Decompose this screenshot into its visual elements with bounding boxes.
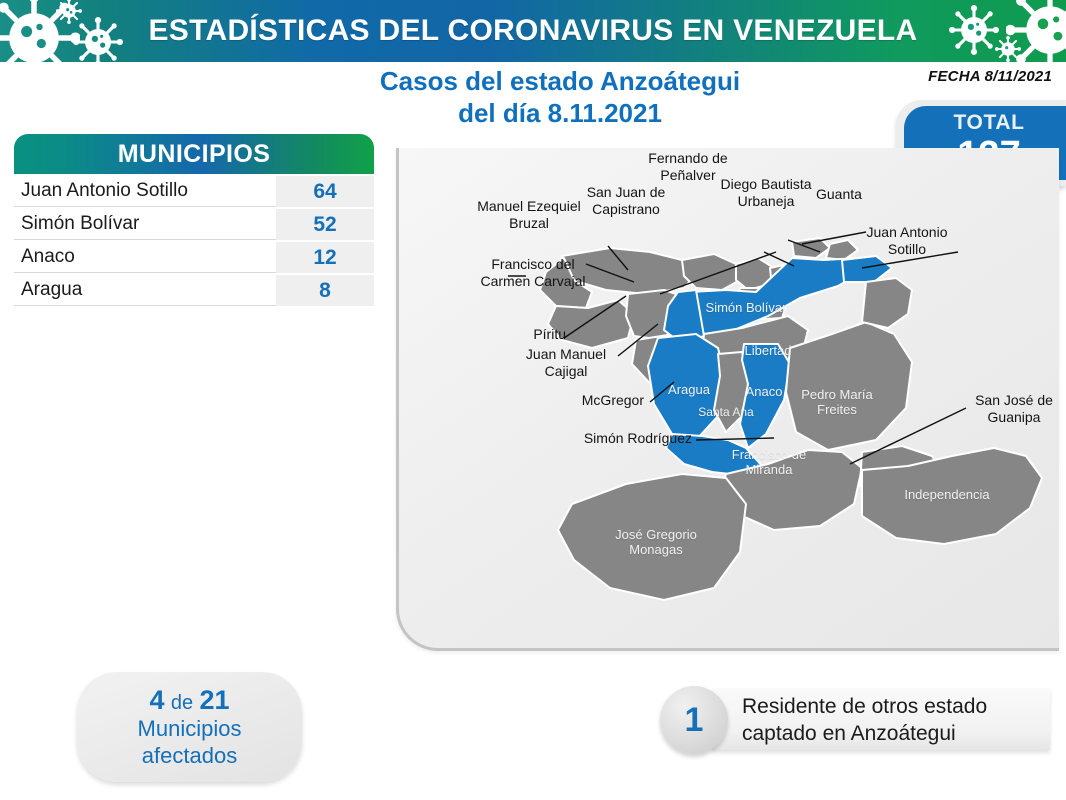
- map-callout-juan-manuel-cajigal: Juan Manuel Cajigal: [514, 346, 618, 379]
- municipio-name: Aragua: [14, 275, 276, 306]
- table-row: Simón Bolívar 52: [14, 209, 374, 240]
- municipio-name: Simón Bolívar: [14, 209, 276, 240]
- residents-note-text: Residente de otros estado captado en Anz…: [742, 694, 1042, 748]
- residents-note-line1: Residente de otros estado: [742, 694, 1042, 721]
- map-callout-guanta: Guanta: [816, 186, 886, 203]
- residents-count-badge: 1: [660, 686, 728, 754]
- total-label: TOTAL: [904, 106, 1066, 135]
- municipio-count: 12: [276, 242, 374, 273]
- page-title: ESTADÍSTICAS DEL CORONAVIRUS EN VENEZUEL…: [0, 0, 1066, 62]
- header-banner: ESTADÍSTICAS DEL CORONAVIRUS EN VENEZUEL…: [0, 0, 1066, 62]
- municipio-name: Anaco: [14, 242, 276, 273]
- residents-note-line2: captado en Anzoátegui: [742, 721, 1042, 748]
- table-row: Anaco 12: [14, 242, 374, 273]
- residents-note: 1 Residente de otros estado captado en A…: [660, 686, 1050, 758]
- map-callout-juan-antonio-sotillo: Juan Antonio Sotillo: [852, 224, 962, 257]
- municipio-name: Juan Antonio Sotillo: [14, 176, 276, 207]
- table-row: Juan Antonio Sotillo 64: [14, 176, 374, 207]
- map-callout-diego-bautista-urbaneja: Diego Bautista Urbaneja: [708, 176, 824, 209]
- table-row: Aragua 8: [14, 275, 374, 306]
- affected-label-line3: afectados: [142, 743, 237, 769]
- municipio-count: 8: [276, 275, 374, 306]
- map-callout-piritu: Píritu: [498, 326, 566, 343]
- date-label: FECHA 8/11/2021: [928, 68, 1052, 85]
- chart-title-line1: Casos del estado Anzoátegui: [380, 66, 740, 96]
- municipios-table: MUNICIPIOS Juan Antonio Sotillo 64 Simón…: [14, 134, 374, 308]
- municipios-table-header: MUNICIPIOS: [14, 134, 374, 174]
- anzoategui-map: Simón Bolívar Libertad Aragua Anaco Sant…: [396, 148, 1066, 653]
- affected-total: 21: [200, 685, 230, 715]
- affected-label-line2: Municipios: [138, 716, 242, 742]
- map-callout-simon-rodriguez: Simón Rodríguez: [556, 430, 692, 447]
- map-callout-manuel-ezequiel-bruzal: Manuel Ezequiel Bruzal: [468, 198, 590, 231]
- map-callout-francisco-del-carmen-carvajal: Francisco del Carmen Carvajal: [478, 256, 588, 289]
- municipio-count: 64: [276, 176, 374, 207]
- municipio-count: 52: [276, 209, 374, 240]
- chart-title-line2: del día 8.11.2021: [300, 98, 820, 130]
- municipios-table-body: Juan Antonio Sotillo 64 Simón Bolívar 52…: [14, 174, 374, 306]
- map-callout-san-jose-de-guanipa: San José de Guanipa: [966, 392, 1062, 425]
- chart-title: Casos del estado Anzoátegui del día 8.11…: [300, 66, 820, 129]
- affected-count-line: 4 de 21: [149, 685, 229, 716]
- affected-count: 4: [149, 685, 164, 715]
- affected-connector: de: [171, 692, 193, 714]
- map-callout-mcgregor: McGregor: [552, 392, 644, 409]
- affected-municipios-summary: 4 de 21 Municipios afectados: [77, 672, 302, 782]
